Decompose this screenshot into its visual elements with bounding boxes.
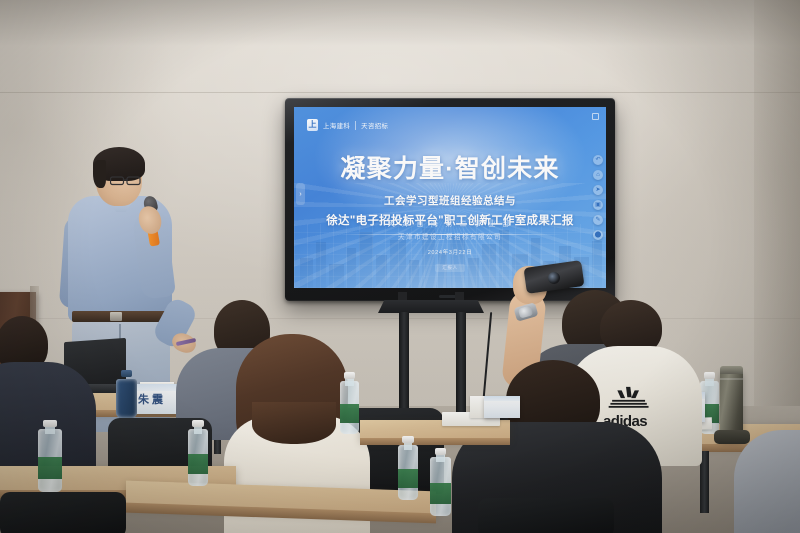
slide-brand-logo: 上 上海建科 天咨招标 [307, 119, 388, 131]
wall-seam-upper [0, 92, 800, 93]
slide-date: 2024年3月22日 [294, 248, 606, 256]
slide-footer-org2: 天津市建设工程招标有限公司 [294, 231, 606, 241]
water-bottle [398, 436, 418, 500]
adidas-trefoil-icon [600, 386, 652, 412]
glasses-icon [110, 176, 143, 186]
brand-mark-icon: 上 [307, 119, 318, 131]
table-edge-mid-center [360, 438, 510, 445]
home-icon[interactable]: ⌂ [593, 170, 603, 180]
slide-subtitle-line1: 工会学习型班组经验总结与 [294, 193, 606, 208]
display-screen: 上 上海建科 天咨招标 › 凝聚力量·智创未来 工会学习型班组经验总结与 徐达"… [294, 107, 606, 288]
display-mount-bracket [378, 300, 484, 313]
brand-primary-label: 上海建科 [323, 121, 350, 130]
conference-room-photo: 上 上海建科 天咨招标 › 凝聚力量·智创未来 工会学习型班组经验总结与 徐达"… [0, 0, 800, 533]
thermos-lid [714, 430, 750, 444]
pen-icon[interactable]: ✎ [593, 215, 603, 225]
arrow-icon[interactable]: ➤ [593, 185, 603, 195]
more-icon[interactable]: ⬤ [593, 230, 603, 240]
travel-mug [116, 370, 137, 418]
brand-secondary-label: 天咨招标 [361, 121, 388, 130]
thermos-cap [720, 366, 743, 374]
logo-divider [355, 121, 356, 130]
display-stand-post-right [456, 312, 466, 412]
chair-front [478, 498, 614, 533]
nameplate-center [484, 396, 520, 418]
attendee-woman-hair-tips [252, 402, 336, 444]
window-icon[interactable] [592, 113, 599, 120]
water-bottle [430, 448, 451, 516]
ceiling-shadow [0, 0, 800, 46]
undo-icon[interactable]: ↶ [593, 155, 603, 165]
water-bottle [340, 372, 359, 434]
water-bottle [38, 420, 62, 492]
slide-title: 凝聚力量·智创未来 [294, 149, 606, 185]
wall-right-column [754, 0, 800, 430]
nameplate-left-text: 朱震 [138, 391, 166, 407]
camera-icon[interactable]: ▣ [593, 200, 603, 210]
chair-front [0, 492, 126, 533]
slide-presenter-badge: 汇报人 [435, 264, 465, 272]
slide-footer-org1: 天 津 首 海 第 二 事 业 部 [294, 219, 606, 229]
belt-buckle [110, 312, 122, 321]
display-stand-post-left [399, 312, 409, 412]
screen-toolbar[interactable]: ↶ ⌂ ➤ ▣ ✎ ⬤ [593, 155, 603, 240]
water-bottle [188, 420, 208, 486]
